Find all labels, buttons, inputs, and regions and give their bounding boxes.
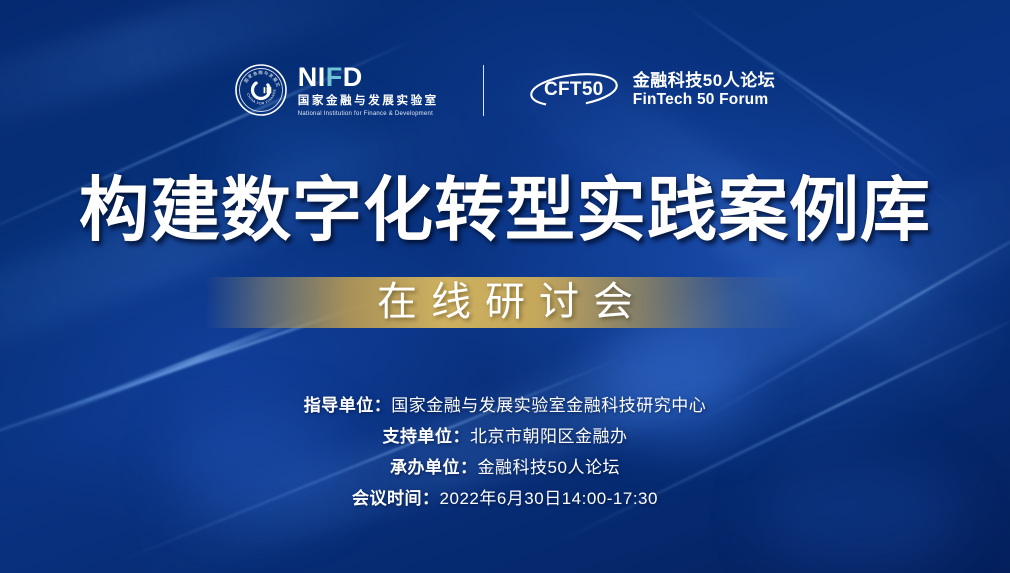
info-line: 指导单位：国家金融与发展实验室金融科技研究中心 [0,390,1010,421]
event-info-list: 指导单位：国家金融与发展实验室金融科技研究中心 支持单位：北京市朝阳区金融办 承… [0,390,1010,514]
nifd-accent-letter: F [326,64,343,91]
nifd-wordmark-letters: NIFD [298,64,439,91]
cft50-logo: CFT50 金融科技50人论坛 FinTech 50 Forum [528,70,775,110]
info-line: 承办单位：金融科技50人论坛 [0,452,1010,483]
event-poster: 国家金融与发展实验室 CHINA FOR FINANCE DEVELOP NIF… [0,0,1010,573]
info-value: 金融科技50人论坛 [478,458,620,477]
info-line: 支持单位：北京市朝阳区金融办 [0,421,1010,452]
info-value: 北京市朝阳区金融办 [470,427,628,446]
nifd-circular-seal-icon: 国家金融与发展实验室 CHINA FOR FINANCE DEVELOP [235,64,287,116]
info-value: 2022年6月30日14:00-17:30 [440,489,658,508]
nifd-logo: 国家金融与发展实验室 CHINA FOR FINANCE DEVELOP NIF… [235,64,439,117]
info-value: 国家金融与发展实验室金融科技研究中心 [391,396,706,415]
nifd-prefix: NI [298,64,326,91]
cft50-mark-label: CFT50 [528,70,620,110]
page-subtitle: 在线研讨会 [0,272,1010,332]
page-title: 构建数字化转型实践案例库 [0,175,1010,245]
logo-divider [483,65,484,116]
svg-text:国家金融与发展实验室: 国家金融与发展实验室 [235,64,282,88]
nifd-name-cn: 国家金融与发展实验室 [298,96,439,108]
info-label: 支持单位： [383,427,471,446]
cft50-name-cn: 金融科技50人论坛 [633,71,775,91]
info-label: 指导单位： [304,396,392,415]
logo-row: 国家金融与发展实验室 CHINA FOR FINANCE DEVELOP NIF… [0,64,1010,117]
cft50-name-en: FinTech 50 Forum [633,91,775,109]
cft50-wordmark: 金融科技50人论坛 FinTech 50 Forum [633,71,775,109]
info-label: 会议时间： [352,489,440,508]
info-label: 承办单位： [390,458,478,477]
nifd-wordmark: NIFD 国家金融与发展实验室 National Institution for… [298,64,439,117]
info-line: 会议时间：2022年6月30日14:00-17:30 [0,483,1010,514]
cft50-ellipse-icon: CFT50 [528,70,620,110]
nifd-suffix: D [343,64,363,91]
nifd-name-en: National Institution for Finance & Devel… [298,111,439,117]
